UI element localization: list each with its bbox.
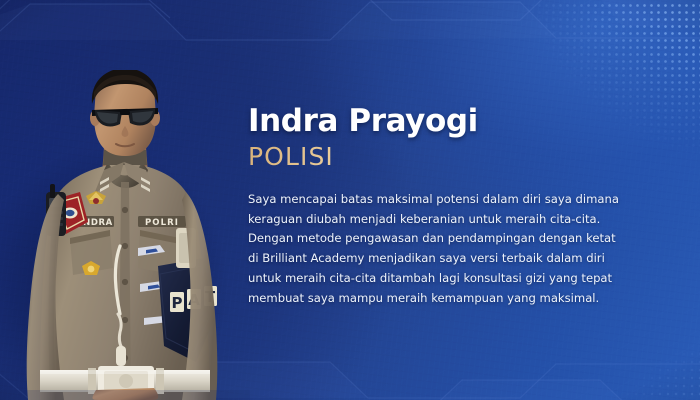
person-name: Indra Prayogi — [248, 104, 678, 138]
person-role: POLISI — [248, 142, 678, 172]
quote-line: untuk meraih cita-cita ditambah lagi kon… — [248, 269, 678, 289]
quote-line: di Brilliant Academy menjadikan saya ver… — [248, 249, 678, 269]
svg-text:P: P — [172, 294, 183, 312]
quote-line: keraguan diubah menjadi keberanian untuk… — [248, 210, 678, 230]
testimonial-card: IT. INDRA POLRI — [0, 0, 700, 400]
svg-text:POLRI: POLRI — [145, 218, 179, 228]
quote-line: Saya mencapai batas maksimal potensi dal… — [248, 190, 678, 210]
police-officer-illustration: IT. INDRA POLRI — [0, 70, 250, 400]
testimonial-content: Indra Prayogi POLISI Saya mencapai batas… — [248, 104, 678, 309]
quote-line: Dengan metode pengawasan dan pendampinga… — [248, 229, 678, 249]
quote-line: membuat saya mampu meraih kemampuan yang… — [248, 289, 678, 309]
portrait-figure: IT. INDRA POLRI — [0, 70, 250, 400]
top-geometric-pattern — [0, 0, 700, 62]
testimonial-quote: Saya mencapai batas maksimal potensi dal… — [248, 190, 678, 310]
